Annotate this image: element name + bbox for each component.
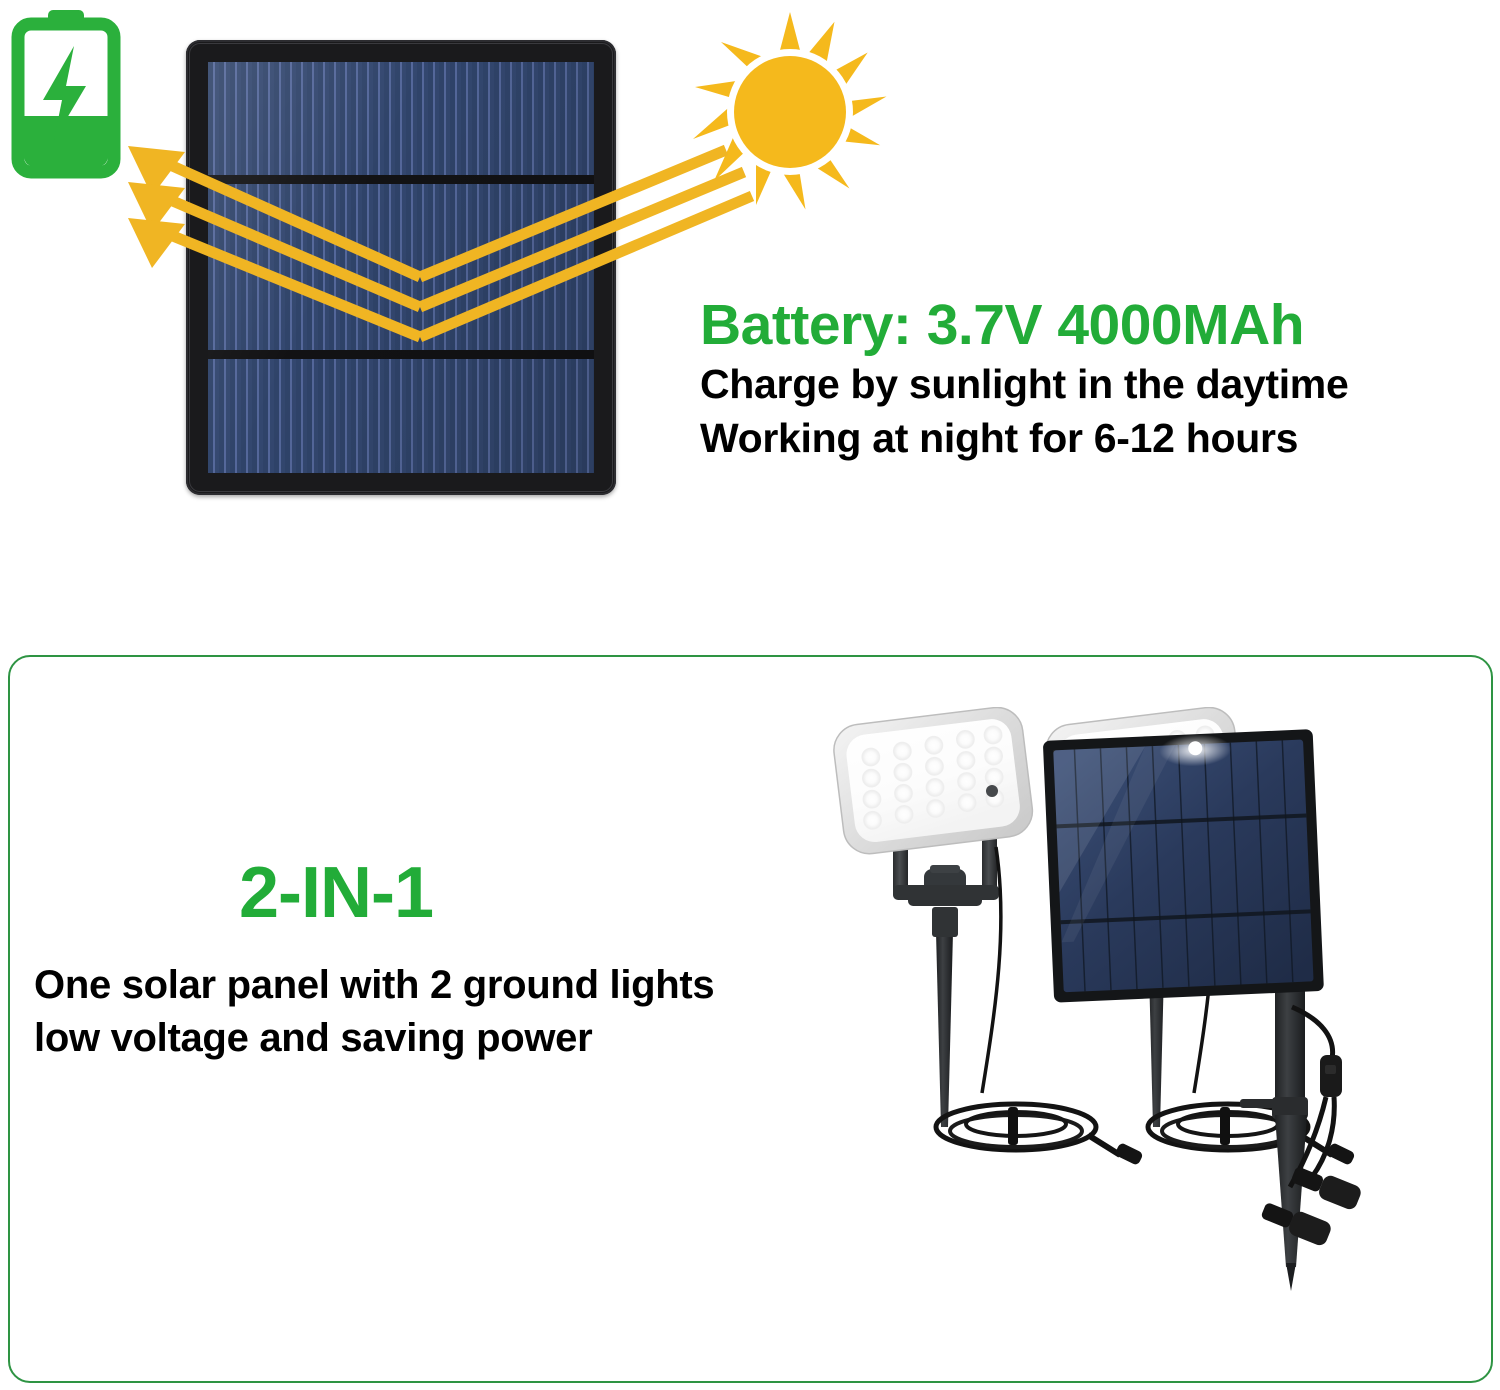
product-artwork [820,707,1485,1367]
bottom-section: 2-IN-1 One solar panel with 2 ground lig… [8,655,1493,1383]
two-in-one-headline: 2-IN-1 [34,857,824,929]
top-text-block: Battery: 3.7V 4000MAh Charge by sunlight… [700,295,1480,465]
top-section: Battery: 3.7V 4000MAh Charge by sunlight… [0,0,1500,640]
solar-panel-bottom [1043,729,1363,1291]
cable-coil-1 [936,1104,1144,1166]
battery-headline: Battery: 3.7V 4000MAh [700,295,1480,357]
two-in-one-line-2: low voltage and saving power [34,1012,824,1065]
bottom-text-block: 2-IN-1 One solar panel with 2 ground lig… [34,857,824,1065]
infographic-root: Battery: 3.7V 4000MAh Charge by sunlight… [0,0,1500,1390]
battery-line-1: Charge by sunlight in the daytime [700,357,1480,411]
battery-line-2: Working at night for 6-12 hours [700,411,1480,465]
two-in-one-line-1: One solar panel with 2 ground lights [34,959,824,1012]
